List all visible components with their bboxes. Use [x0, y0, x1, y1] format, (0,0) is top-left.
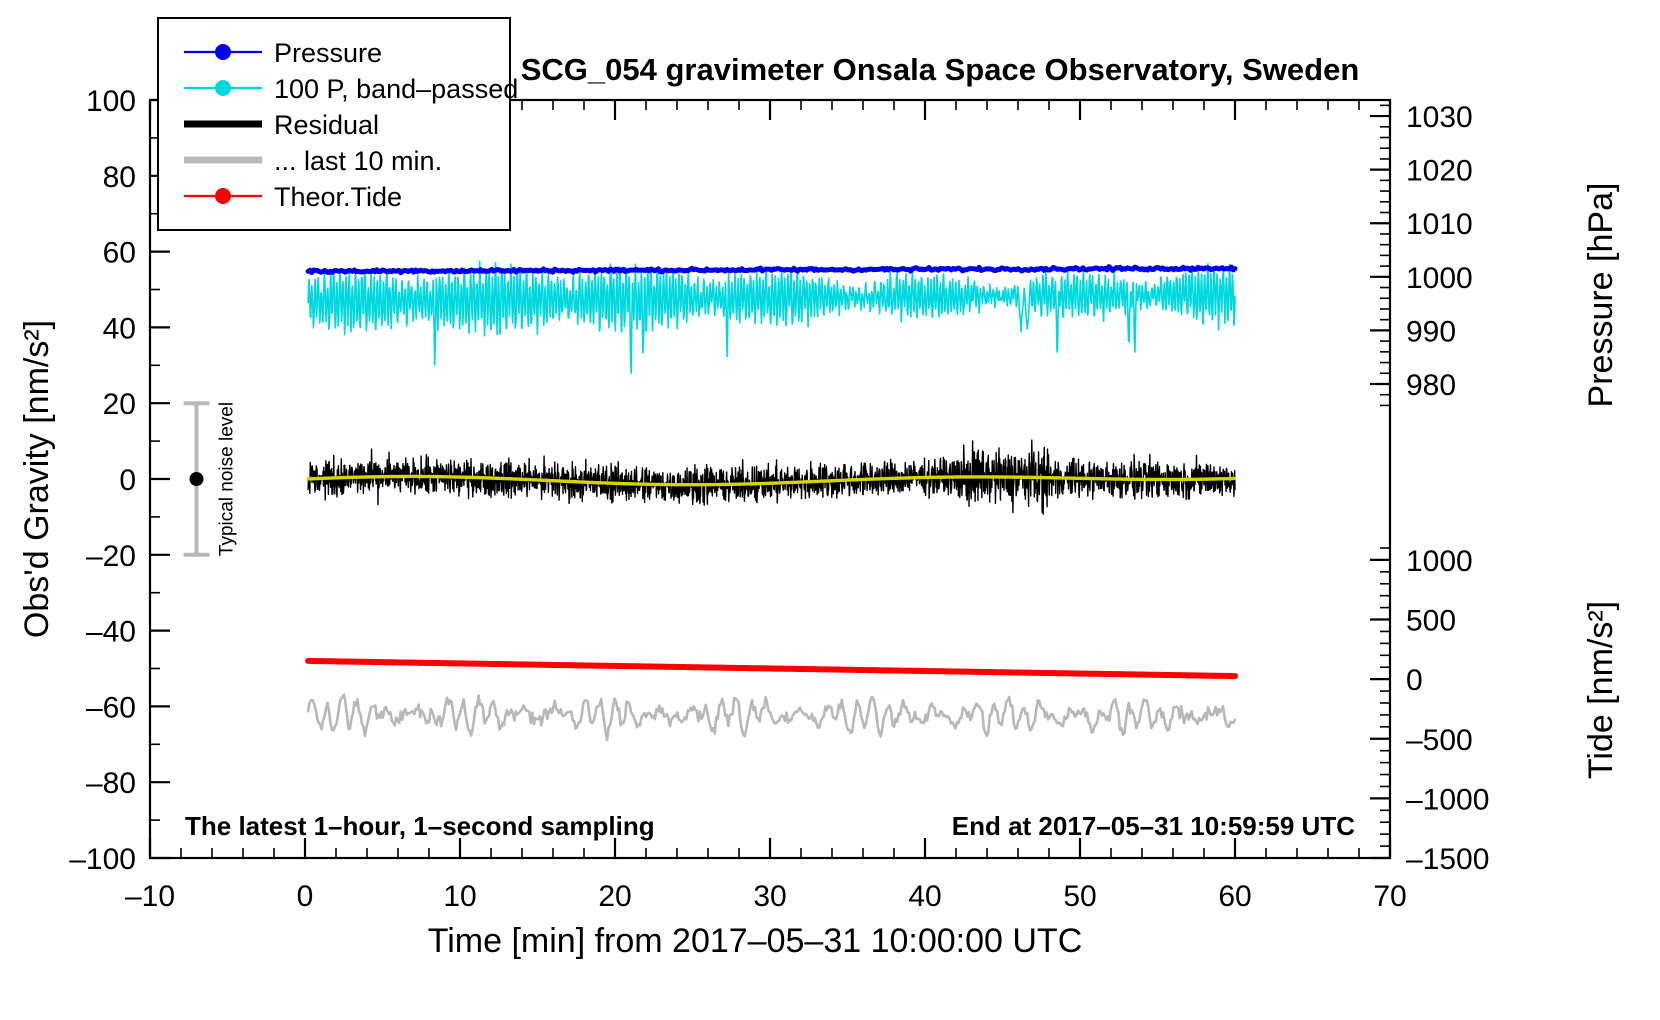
legend-label: 100 P, band–passed [274, 74, 518, 104]
x-tick-label: 50 [1063, 880, 1096, 913]
x-tick-label: 20 [598, 880, 631, 913]
y-tick-label: –100 [69, 843, 136, 876]
x-tick-label: 30 [753, 880, 786, 913]
legend-marker-dot [215, 80, 231, 96]
chart-title: SCG_054 gravimeter Onsala Space Observat… [521, 52, 1360, 87]
pressure-tick-label: 1030 [1406, 101, 1473, 134]
x-tick-label: 60 [1218, 880, 1251, 913]
legend-label: Theor.Tide [274, 182, 402, 212]
x-tick-label: 10 [443, 880, 476, 913]
x-tick-label: 70 [1373, 880, 1406, 913]
pressure-tick-label: 1020 [1406, 155, 1473, 188]
pressure-tick-label: 1000 [1406, 262, 1473, 295]
x-tick-label: –10 [125, 880, 175, 913]
annotation-sampling: The latest 1–hour, 1–second sampling [185, 811, 655, 841]
legend-marker-dot [215, 188, 231, 204]
tide-tick-label: 500 [1406, 605, 1456, 638]
legend-label: Pressure [274, 38, 382, 68]
y-axis-title: Obs'd Gravity [nm/s²] [18, 320, 56, 638]
pressure-tick-label: 980 [1406, 369, 1456, 402]
tide-tick-label: –500 [1406, 724, 1473, 757]
legend[interactable]: Pressure100 P, band–passedResidual... la… [158, 18, 518, 230]
y-tick-label: 60 [103, 237, 136, 270]
chart-canvas: –10010203040506070 –100–80–60–40–2002040… [0, 0, 1660, 1020]
legend-label: ... last 10 min. [274, 146, 442, 176]
tide-tick-label: –1000 [1406, 783, 1489, 816]
y-tick-label: 100 [86, 85, 136, 118]
pressure-tick-label: 1010 [1406, 208, 1473, 241]
y-tick-label: –80 [86, 767, 136, 800]
y-tick-label: 80 [103, 161, 136, 194]
annotation-end-time: End at 2017–05–31 10:59:59 UTC [952, 811, 1355, 841]
pressure-axis-title: Pressure [hPa] [1582, 183, 1620, 408]
x-tick-label: 0 [297, 880, 314, 913]
y-tick-label: –40 [86, 616, 136, 649]
legend-marker-dot [215, 44, 231, 60]
pressure-tick-label: 990 [1406, 315, 1456, 348]
y-tick-label: 0 [119, 464, 136, 497]
y-tick-label: –20 [86, 540, 136, 573]
noise-center-dot [190, 472, 204, 486]
y-tick-label: 20 [103, 388, 136, 421]
x-tick-label: 40 [908, 880, 941, 913]
tide-tick-label: –1500 [1406, 843, 1489, 876]
tide-tick-label: 1000 [1406, 545, 1473, 578]
y-tick-label: –60 [86, 691, 136, 724]
tide-tick-label: 0 [1406, 664, 1423, 697]
x-axis-title: Time [min] from 2017–05–31 10:00:00 UTC [428, 922, 1083, 960]
gravimeter-chart: –10010203040506070 –100–80–60–40–2002040… [0, 0, 1660, 1020]
legend-label: Residual [274, 110, 379, 140]
noise-level-label: Typical noise level [217, 402, 238, 556]
y-tick-label: 40 [103, 312, 136, 345]
tide-axis-title: Tide [nm/s²] [1582, 601, 1620, 779]
